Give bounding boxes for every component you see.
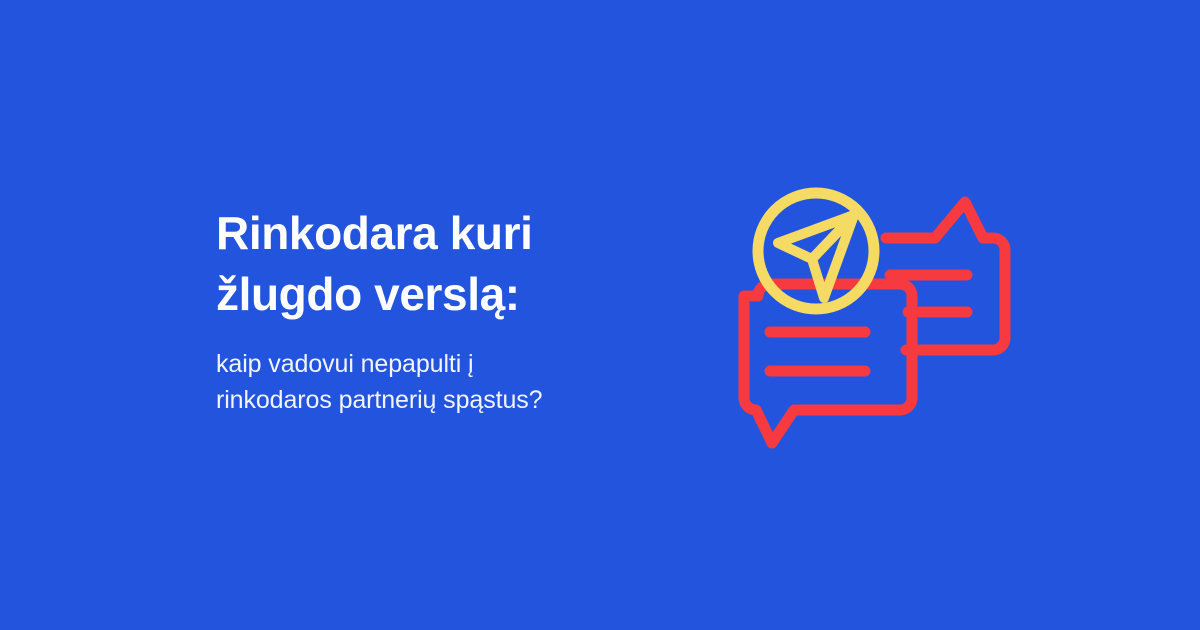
- promo-banner: Rinkodara kuri žlugdo verslą: kaip vadov…: [0, 0, 1200, 630]
- banner-text-block: Rinkodara kuri žlugdo verslą: kaip vadov…: [216, 203, 686, 418]
- page-title: Rinkodara kuri žlugdo verslą:: [216, 203, 686, 325]
- send-badge: [758, 193, 874, 309]
- back-speech-bubble: [886, 202, 1005, 350]
- chat-bubbles-send-illustration: [690, 160, 1050, 470]
- banner-subtitle: kaip vadovui nepapulti į rinkodaros part…: [216, 325, 686, 418]
